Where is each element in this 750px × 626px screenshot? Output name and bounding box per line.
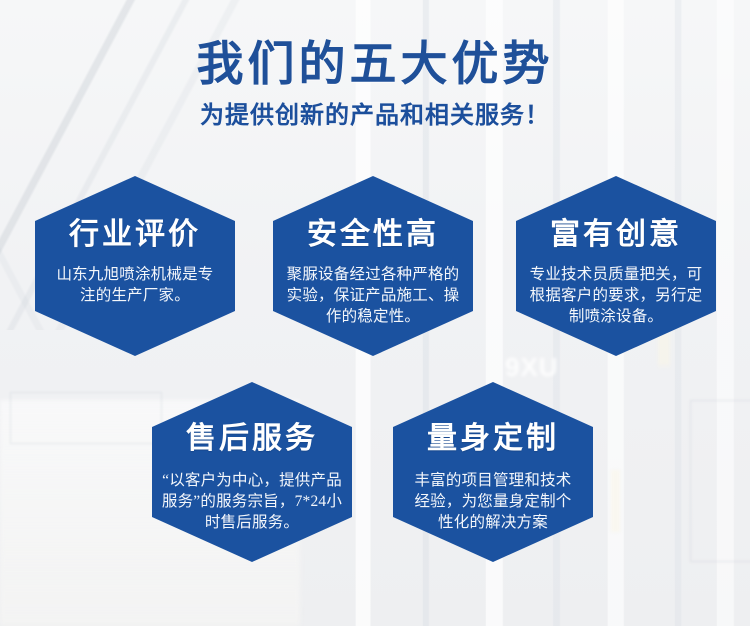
advantage-description: 专业技术员质量把关，可根据客户的要求，另行定制喷涂设备。 — [516, 264, 716, 327]
background-lamp-streak-2 — [611, 470, 620, 532]
advantage-card-creative[interactable]: 富有创意 专业技术员质量把关，可根据客户的要求，另行定制喷涂设备。 — [516, 176, 716, 356]
advantage-title: 量身定制 — [393, 424, 593, 454]
advantage-description: 山东九旭喷涂机械是专注的生产厂家。 — [35, 264, 235, 306]
advantages-banner: 9XU 我们的五大优势 为提供创新的产品和相关服务！ 行业评价 山东九旭喷涂机械… — [0, 0, 750, 626]
advantage-title: 行业评价 — [35, 220, 235, 250]
advantage-card-tailor-made[interactable]: 量身定制 丰富的项目管理和技术经验，为您量身定制个性化的解决方案 — [393, 382, 593, 562]
advantage-description: 丰富的项目管理和技术经验，为您量身定制个性化的解决方案 — [393, 470, 593, 533]
advantage-description: “以客户为中心，提供产品服务”的服务宗旨，7*24小时售后服务。 — [152, 470, 352, 533]
background-frame-left — [10, 392, 162, 444]
advantage-title: 售后服务 — [152, 424, 352, 454]
advantage-card-industry-reputation[interactable]: 行业评价 山东九旭喷涂机械是专注的生产厂家。 — [35, 176, 235, 356]
page-subtitle: 为提供创新的产品和相关服务！ — [0, 103, 750, 129]
advantage-card-after-sales[interactable]: 售后服务 “以客户为中心，提供产品服务”的服务宗旨，7*24小时售后服务。 — [152, 382, 352, 562]
page-title: 我们的五大优势 — [0, 40, 750, 92]
advantage-title: 富有创意 — [516, 220, 716, 250]
heading-block: 我们的五大优势 为提供创新的产品和相关服务！ — [0, 40, 750, 129]
background-frame-right — [690, 400, 750, 562]
advantage-card-high-safety[interactable]: 安全性高 聚脲设备经过各种严格的实验，保证产品施工、操作的稳定性。 — [273, 176, 473, 356]
advantage-description: 聚脲设备经过各种严格的实验，保证产品施工、操作的稳定性。 — [273, 264, 473, 327]
advantage-title: 安全性高 — [273, 220, 473, 250]
